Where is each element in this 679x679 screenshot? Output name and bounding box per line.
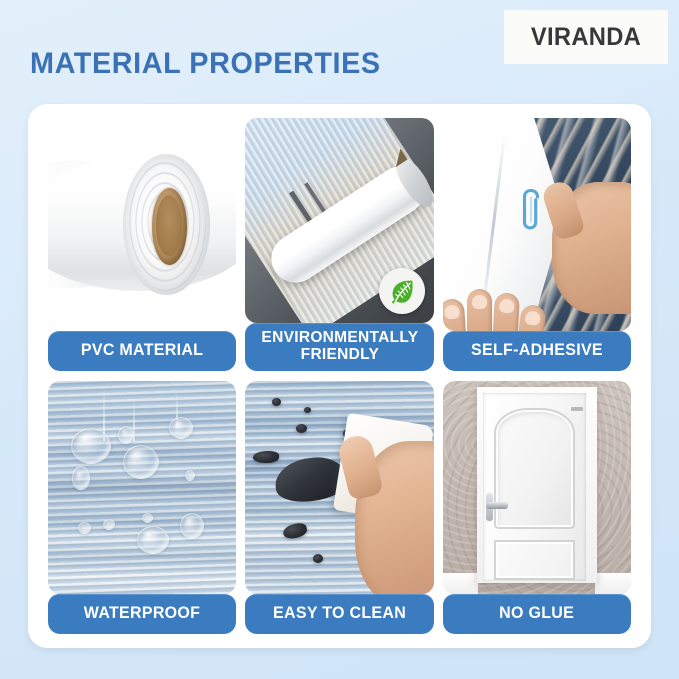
water-droplet (71, 428, 111, 464)
water-droplet (103, 519, 115, 530)
water-droplet (180, 513, 204, 539)
baseboard-right (595, 573, 631, 594)
brand-logo-text: VIRANDA (531, 23, 641, 52)
fingernail (524, 311, 541, 327)
feature-card: PVC MATERIAL (28, 104, 651, 648)
feature-cell-no-glue[interactable]: NO GLUE (443, 381, 631, 634)
adhesive-scene (443, 118, 631, 331)
door-handle (486, 502, 508, 509)
feature-grid: PVC MATERIAL (48, 118, 631, 634)
pvc-roll-core-inner (156, 195, 182, 257)
water-droplet (72, 466, 90, 490)
pvc-roll-scene (48, 118, 236, 331)
no-glue-photo (443, 381, 631, 594)
water-droplet (185, 470, 195, 481)
environmentally-friendly-photo (245, 118, 433, 323)
paperclip-icon (518, 186, 544, 236)
stain-spot (272, 398, 281, 406)
feature-cell-waterproof[interactable]: WATERPROOF (48, 381, 236, 634)
feature-label-text-line2: FRIENDLY (261, 347, 418, 364)
feature-cell-environmentally-friendly[interactable]: ENVIRONMENTALLY FRIENDLY (245, 118, 433, 371)
fingernail (499, 299, 515, 314)
water-droplet (118, 426, 134, 444)
stain-spot (282, 521, 308, 540)
door-upper-panel (496, 410, 573, 527)
baseboard-left (443, 573, 479, 594)
eco-scene (245, 118, 433, 323)
finger (491, 293, 520, 331)
feature-label-text: WATERPROOF (84, 605, 200, 622)
door-panel-body (483, 393, 587, 581)
feature-label-no-glue: NO GLUE (443, 594, 631, 634)
water-droplet (142, 513, 153, 523)
feature-cell-self-adhesive[interactable]: SELF-ADHESIVE (443, 118, 631, 371)
waterproof-photo (48, 381, 236, 594)
door-frame (477, 387, 598, 583)
feature-label-text: PVC MATERIAL (81, 342, 203, 359)
water-droplet (169, 417, 193, 439)
feature-label-self-adhesive: SELF-ADHESIVE (443, 331, 631, 371)
feature-label-text: EASY TO CLEAN (273, 605, 406, 622)
leaf-icon (379, 268, 425, 314)
feature-label-easy-to-clean: EASY TO CLEAN (245, 594, 433, 634)
page-header: MATERIAL PROPERTIES VIRANDA (0, 0, 679, 104)
stain-spot (304, 407, 311, 413)
water-droplet (137, 526, 169, 554)
feature-label-text: NO GLUE (499, 605, 574, 622)
self-adhesive-photo (443, 118, 631, 331)
door-lower-panel (496, 542, 573, 578)
fingernail (444, 305, 460, 320)
door-scene (443, 381, 631, 594)
stain-spot (296, 424, 307, 433)
feature-label-pvc-material: PVC MATERIAL (48, 331, 236, 371)
pvc-material-photo (48, 118, 236, 331)
easy-to-clean-photo (245, 381, 433, 594)
finger (443, 299, 469, 331)
page-title: MATERIAL PROPERTIES (30, 47, 381, 81)
brand-logo: VIRANDA (504, 10, 668, 64)
fingernail (472, 295, 487, 309)
feature-cell-easy-to-clean[interactable]: EASY TO CLEAN (245, 381, 433, 634)
feature-label-waterproof: WATERPROOF (48, 594, 236, 634)
feature-cell-pvc-material[interactable]: PVC MATERIAL (48, 118, 236, 371)
feature-label-environmentally-friendly: ENVIRONMENTALLY FRIENDLY (245, 323, 433, 371)
finger (467, 289, 492, 331)
left-hand (443, 259, 545, 331)
waterproof-scene (48, 381, 236, 594)
feature-label-text: SELF-ADHESIVE (471, 342, 603, 359)
stain-spot (313, 554, 323, 563)
feature-label-text-line1: ENVIRONMENTALLY (261, 330, 418, 347)
door-latch (571, 407, 583, 411)
stain-spot (253, 451, 279, 463)
easy-to-clean-scene (245, 381, 433, 594)
water-droplet (78, 522, 91, 534)
water-droplet (123, 445, 159, 479)
